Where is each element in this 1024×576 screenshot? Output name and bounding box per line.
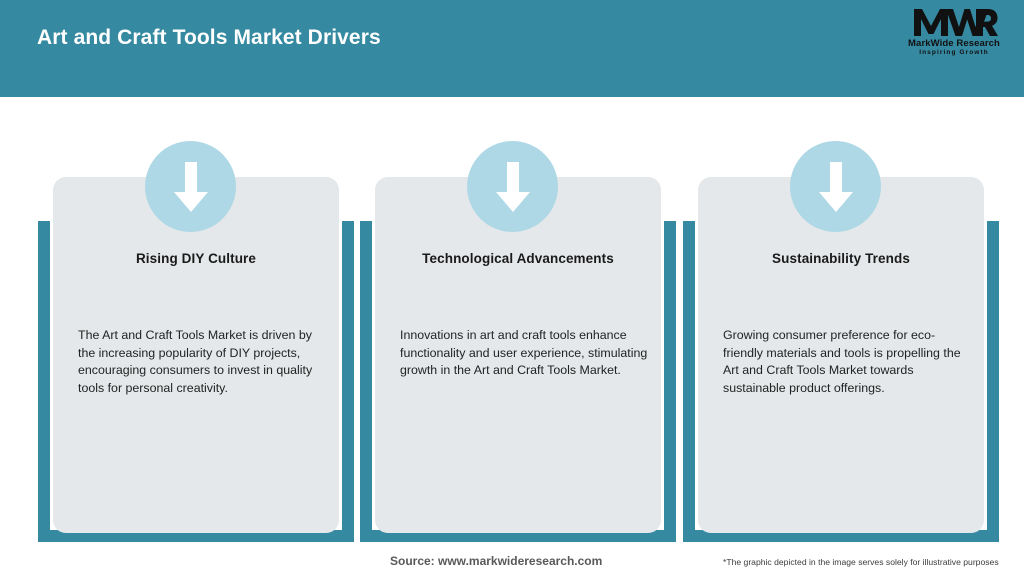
- arrow-down-icon: [790, 141, 881, 232]
- driver-card[interactable]: Sustainability Trends Growing consumer p…: [683, 141, 999, 542]
- card-frame-right-bar: [342, 221, 354, 542]
- card-frame-left-bar: [360, 221, 372, 542]
- driver-cards-container: Rising DIY Culture The Art and Craft Too…: [0, 0, 1024, 576]
- card-description: The Art and Craft Tools Market is driven…: [78, 327, 328, 397]
- driver-card[interactable]: Technological Advancements Innovations i…: [360, 141, 676, 542]
- card-frame-right-bar: [987, 221, 999, 542]
- arrow-down-icon: [145, 141, 236, 232]
- card-title: Sustainability Trends: [698, 251, 984, 266]
- card-frame-left-bar: [683, 221, 695, 542]
- card-description: Growing consumer preference for eco-frie…: [723, 327, 973, 397]
- disclaimer-note: *The graphic depicted in the image serve…: [723, 557, 999, 567]
- card-frame-left-bar: [38, 221, 50, 542]
- arrow-down-icon: [467, 141, 558, 232]
- card-frame-right-bar: [664, 221, 676, 542]
- driver-card[interactable]: Rising DIY Culture The Art and Craft Too…: [38, 141, 354, 542]
- card-description: Innovations in art and craft tools enhan…: [400, 327, 650, 380]
- source-label: Source: www.markwideresearch.com: [390, 554, 602, 568]
- card-title: Technological Advancements: [375, 251, 661, 266]
- card-title: Rising DIY Culture: [53, 251, 339, 266]
